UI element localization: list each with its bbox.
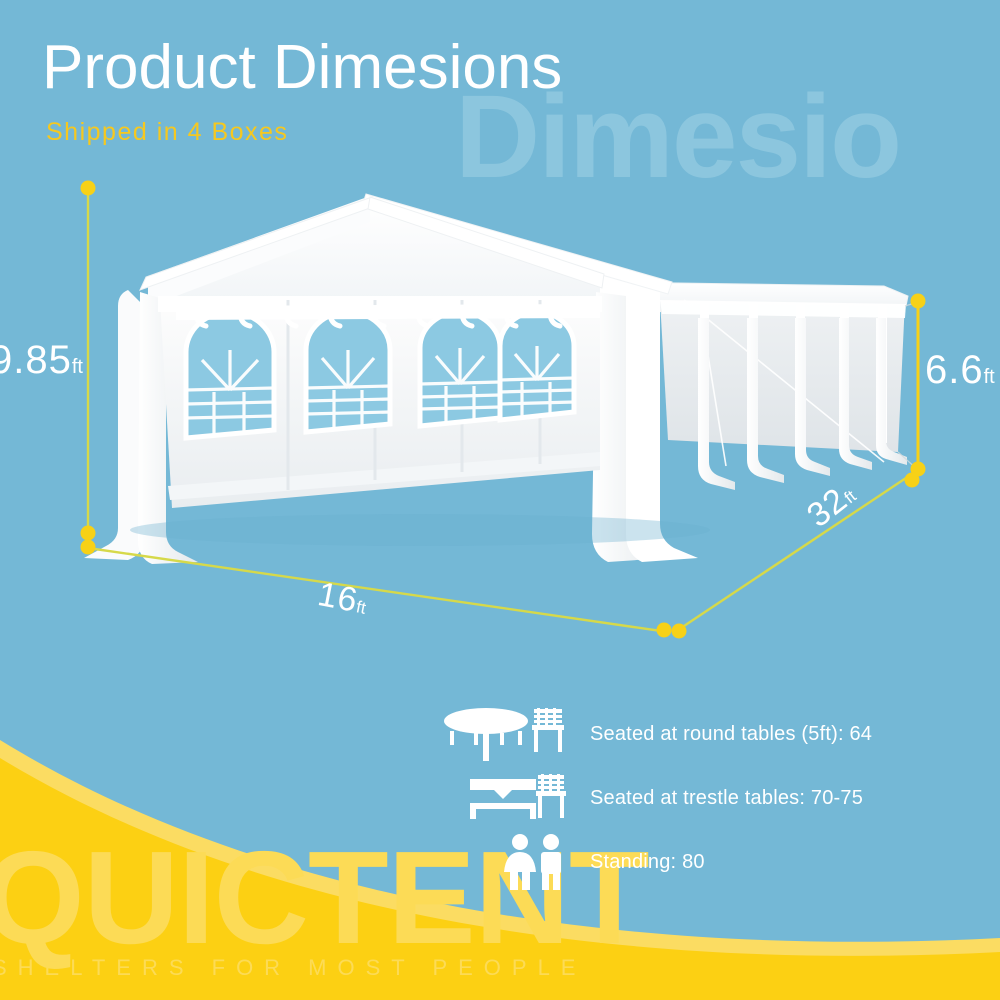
dimension-unit-height-left: ft xyxy=(72,356,83,378)
dimension-value-height-right: 6.6 xyxy=(925,348,984,392)
standing-people-icon xyxy=(440,833,590,891)
capacity-row: Standing: 80 xyxy=(440,830,1000,894)
capacity-label: Seated at trestle tables: 70-75 xyxy=(590,787,863,810)
dimension-unit-height-right: ft xyxy=(984,366,995,388)
dimension-label-height-left: 9.85ft xyxy=(0,338,83,383)
dimension-value-height-left: 9.85 xyxy=(0,338,72,382)
capacity-label: Seated at round tables (5ft): 64 xyxy=(590,723,872,746)
dim-line-width-front xyxy=(88,548,668,632)
trestle-table-chair-icon xyxy=(440,773,590,823)
capacity-row: Seated at trestle tables: 70-75 xyxy=(440,766,1000,830)
tent-roof xyxy=(140,194,672,312)
brand-tagline: SHELTERS FOR MOST PEOPLE xyxy=(0,955,586,981)
ground-shadow xyxy=(130,514,710,546)
capacity-label: Standing: 80 xyxy=(590,851,705,874)
infographic-canvas: Dimesio Product Dimesions Shipped in 4 B… xyxy=(0,0,1000,1000)
capacity-list: Seated at round tables (5ft): 64 xyxy=(440,702,1000,894)
round-table-chair-icon xyxy=(440,705,590,763)
dim-line-depth-side xyxy=(678,470,918,630)
tent-side-wall xyxy=(158,296,602,508)
dimension-label-height-right: 6.6ft xyxy=(925,348,995,393)
capacity-row: Seated at round tables (5ft): 64 xyxy=(440,702,1000,766)
